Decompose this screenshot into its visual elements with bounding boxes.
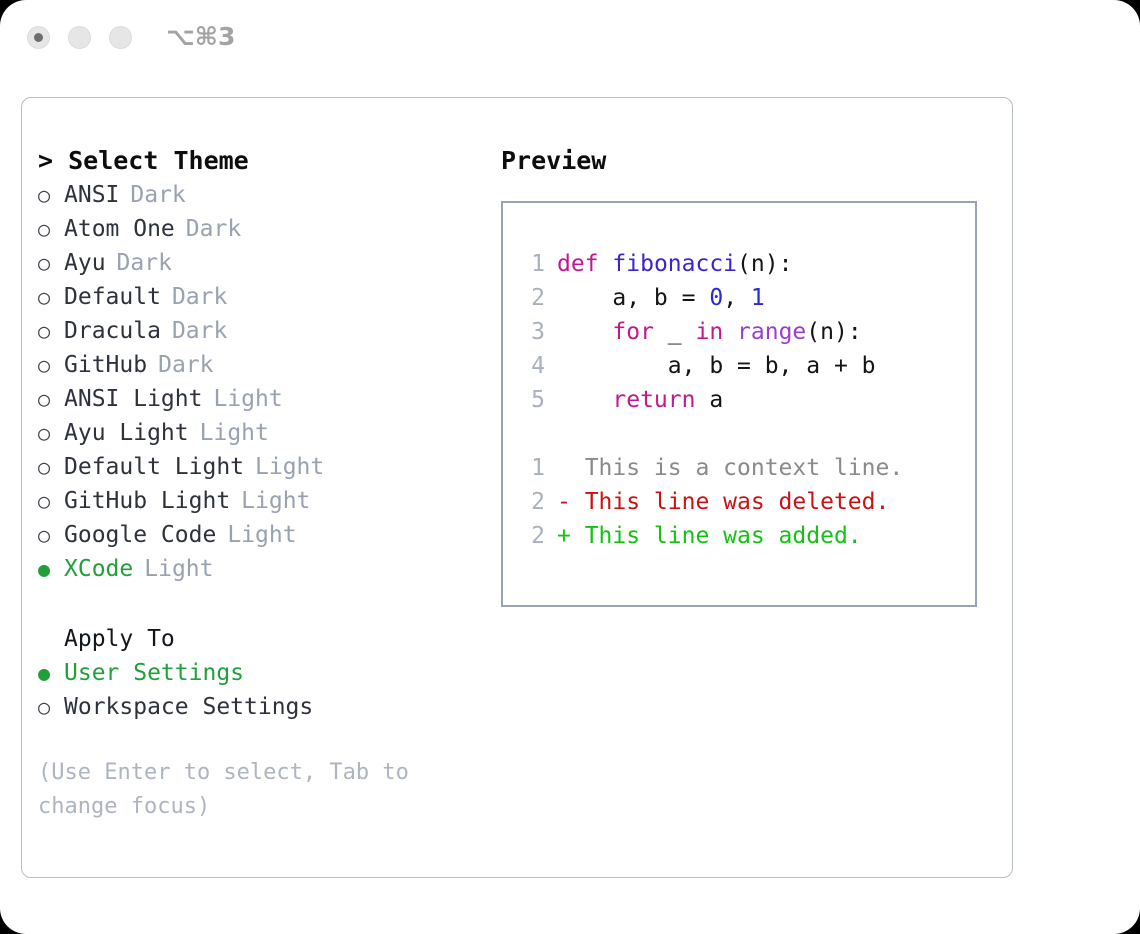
theme-list-item[interactable]: ○GitHubDark bbox=[38, 348, 478, 382]
radio-unselected-icon: ○ bbox=[38, 246, 64, 280]
line-number: 5 bbox=[519, 383, 557, 417]
theme-name-label: Dracula bbox=[64, 314, 161, 348]
code-text: for _ in range(n): bbox=[557, 315, 862, 349]
theme-kind-badge: Light bbox=[244, 450, 324, 484]
code-token: , bbox=[723, 285, 751, 311]
theme-kind-badge: Light bbox=[133, 552, 213, 586]
code-token: (n): bbox=[737, 251, 792, 277]
code-text: This is a context line. bbox=[557, 451, 903, 485]
apply-to-label: Workspace Settings bbox=[64, 690, 313, 724]
radio-unselected-icon: ○ bbox=[38, 314, 64, 348]
radio-unselected-icon: ○ bbox=[38, 416, 64, 450]
radio-unselected-icon: ○ bbox=[38, 382, 64, 416]
code-token: (n): bbox=[806, 319, 861, 345]
code-text: def fibonacci(n): bbox=[557, 247, 792, 281]
record-dot-icon bbox=[34, 33, 43, 42]
code-line: 4 a, b = b, a + b bbox=[519, 349, 903, 383]
theme-name-label: Default Light bbox=[64, 450, 244, 484]
code-token: 1 bbox=[751, 285, 765, 311]
traffic-light-maximize[interactable] bbox=[109, 26, 132, 49]
code-line: 1def fibonacci(n): bbox=[519, 247, 903, 281]
code-token bbox=[723, 319, 737, 345]
theme-list-item[interactable]: ○ANSI LightLight bbox=[38, 382, 478, 416]
theme-name-label: Google Code bbox=[64, 518, 216, 552]
theme-list-item[interactable]: ○DefaultDark bbox=[38, 280, 478, 314]
radio-selected-icon: ● bbox=[38, 656, 64, 690]
code-token: return bbox=[612, 387, 695, 413]
theme-kind-badge: Light bbox=[216, 518, 296, 552]
code-line: 1 This is a context line. bbox=[519, 451, 903, 485]
theme-list-item[interactable]: ○AyuDark bbox=[38, 246, 478, 280]
code-line: 2 a, b = 0, 1 bbox=[519, 281, 903, 315]
panel-columns: > Select Theme ○ANSIDark○Atom OneDark○Ay… bbox=[22, 98, 1012, 877]
code-token: - This line was deleted. bbox=[557, 489, 889, 515]
main-panel: > Select Theme ○ANSIDark○Atom OneDark○Ay… bbox=[21, 97, 1013, 878]
code-token: + This line was added. bbox=[557, 523, 862, 549]
code-line: 2- This line was deleted. bbox=[519, 485, 903, 519]
preview-box: 1def fibonacci(n):2 a, b = 0, 13 for _ i… bbox=[501, 201, 977, 607]
theme-list-item[interactable]: ○Google CodeLight bbox=[38, 518, 478, 552]
traffic-light-minimize[interactable] bbox=[68, 26, 91, 49]
apply-to-list: ●User Settings○Workspace Settings bbox=[38, 656, 478, 724]
theme-kind-badge: Light bbox=[202, 382, 282, 416]
line-number: 4 bbox=[519, 349, 557, 383]
theme-kind-badge: Dark bbox=[161, 280, 227, 314]
code-text: - This line was deleted. bbox=[557, 485, 889, 519]
traffic-light-close[interactable] bbox=[27, 26, 50, 49]
code-token: a, b = bbox=[557, 285, 709, 311]
theme-name-label: Default bbox=[64, 280, 161, 314]
app-window: ⌥⌘3 > Select Theme ○ANSIDark○Atom OneDar… bbox=[0, 0, 1140, 934]
code-line: 5 return a bbox=[519, 383, 903, 417]
code-token bbox=[557, 387, 612, 413]
theme-name-label: Atom One bbox=[64, 212, 175, 246]
code-token: a bbox=[695, 387, 723, 413]
code-token: def bbox=[557, 251, 599, 277]
line-number: 3 bbox=[519, 315, 557, 349]
keyboard-hint-text: (Use Enter to select, Tab to change focu… bbox=[38, 756, 438, 824]
code-text: a, b = 0, 1 bbox=[557, 281, 765, 315]
code-token: range bbox=[737, 319, 806, 345]
preview-header: Preview bbox=[501, 144, 1001, 178]
theme-name-label: Ayu bbox=[64, 246, 106, 280]
preview-column: Preview 1def fibonacci(n):2 a, b = 0, 13… bbox=[501, 144, 1001, 607]
theme-kind-badge: Dark bbox=[119, 178, 185, 212]
code-token: 0 bbox=[709, 285, 723, 311]
code-token: for bbox=[612, 319, 654, 345]
code-text: return a bbox=[557, 383, 723, 417]
theme-name-label: Ayu Light bbox=[64, 416, 189, 450]
radio-unselected-icon: ○ bbox=[38, 178, 64, 212]
theme-name-label: XCode bbox=[64, 552, 133, 586]
theme-list: ○ANSIDark○Atom OneDark○AyuDark○DefaultDa… bbox=[38, 178, 478, 586]
code-token: _ bbox=[654, 319, 696, 345]
code-token: fibonacci bbox=[612, 251, 737, 277]
line-number: 2 bbox=[519, 281, 557, 315]
theme-list-item[interactable]: ○Atom OneDark bbox=[38, 212, 478, 246]
apply-to-item[interactable]: ●User Settings bbox=[38, 656, 478, 690]
code-token: a, b = b, a + b bbox=[557, 353, 876, 379]
title-bar: ⌥⌘3 bbox=[0, 0, 1140, 76]
theme-kind-badge: Dark bbox=[106, 246, 172, 280]
theme-kind-badge: Light bbox=[230, 484, 310, 518]
radio-selected-icon: ● bbox=[38, 552, 64, 586]
code-text: + This line was added. bbox=[557, 519, 862, 553]
radio-unselected-icon: ○ bbox=[38, 690, 64, 724]
theme-selector-column: > Select Theme ○ANSIDark○Atom OneDark○Ay… bbox=[38, 144, 478, 824]
code-line: 3 for _ in range(n): bbox=[519, 315, 903, 349]
keyboard-shortcut-label: ⌥⌘3 bbox=[166, 22, 235, 51]
theme-name-label: GitHub bbox=[64, 348, 147, 382]
theme-kind-badge: Dark bbox=[161, 314, 227, 348]
apply-to-header: Apply To bbox=[38, 622, 478, 656]
code-text: a, b = b, a + b bbox=[557, 349, 876, 383]
code-blank-line bbox=[519, 417, 903, 451]
radio-unselected-icon: ○ bbox=[38, 212, 64, 246]
line-number: 2 bbox=[519, 519, 557, 553]
radio-unselected-icon: ○ bbox=[38, 484, 64, 518]
radio-unselected-icon: ○ bbox=[38, 280, 64, 314]
theme-kind-badge: Dark bbox=[147, 348, 213, 382]
apply-to-item[interactable]: ○Workspace Settings bbox=[38, 690, 478, 724]
theme-list-item[interactable]: ○GitHub LightLight bbox=[38, 484, 478, 518]
code-token: This is a context line. bbox=[557, 455, 903, 481]
theme-name-label: GitHub Light bbox=[64, 484, 230, 518]
code-token bbox=[557, 319, 612, 345]
line-number: 1 bbox=[519, 247, 557, 281]
theme-name-label: ANSI Light bbox=[64, 382, 202, 416]
theme-list-item[interactable]: ○DraculaDark bbox=[38, 314, 478, 348]
theme-list-item[interactable]: ○ANSIDark bbox=[38, 178, 478, 212]
code-token bbox=[599, 251, 613, 277]
theme-kind-badge: Dark bbox=[175, 212, 241, 246]
theme-name-label: ANSI bbox=[64, 178, 119, 212]
traffic-lights bbox=[27, 26, 132, 49]
code-line: 2+ This line was added. bbox=[519, 519, 903, 553]
line-number: 2 bbox=[519, 485, 557, 519]
theme-kind-badge: Light bbox=[189, 416, 269, 450]
radio-unselected-icon: ○ bbox=[38, 348, 64, 382]
theme-list-item[interactable]: ○Default LightLight bbox=[38, 450, 478, 484]
select-theme-header: > Select Theme bbox=[38, 144, 478, 178]
code-token: in bbox=[695, 319, 723, 345]
theme-list-item[interactable]: ○Ayu LightLight bbox=[38, 416, 478, 450]
radio-unselected-icon: ○ bbox=[38, 518, 64, 552]
spacer bbox=[38, 586, 478, 622]
apply-to-label: User Settings bbox=[64, 656, 244, 690]
code-preview: 1def fibonacci(n):2 a, b = 0, 13 for _ i… bbox=[519, 247, 903, 553]
line-number: 1 bbox=[519, 451, 557, 485]
radio-unselected-icon: ○ bbox=[38, 450, 64, 484]
theme-list-item[interactable]: ●XCodeLight bbox=[38, 552, 478, 586]
